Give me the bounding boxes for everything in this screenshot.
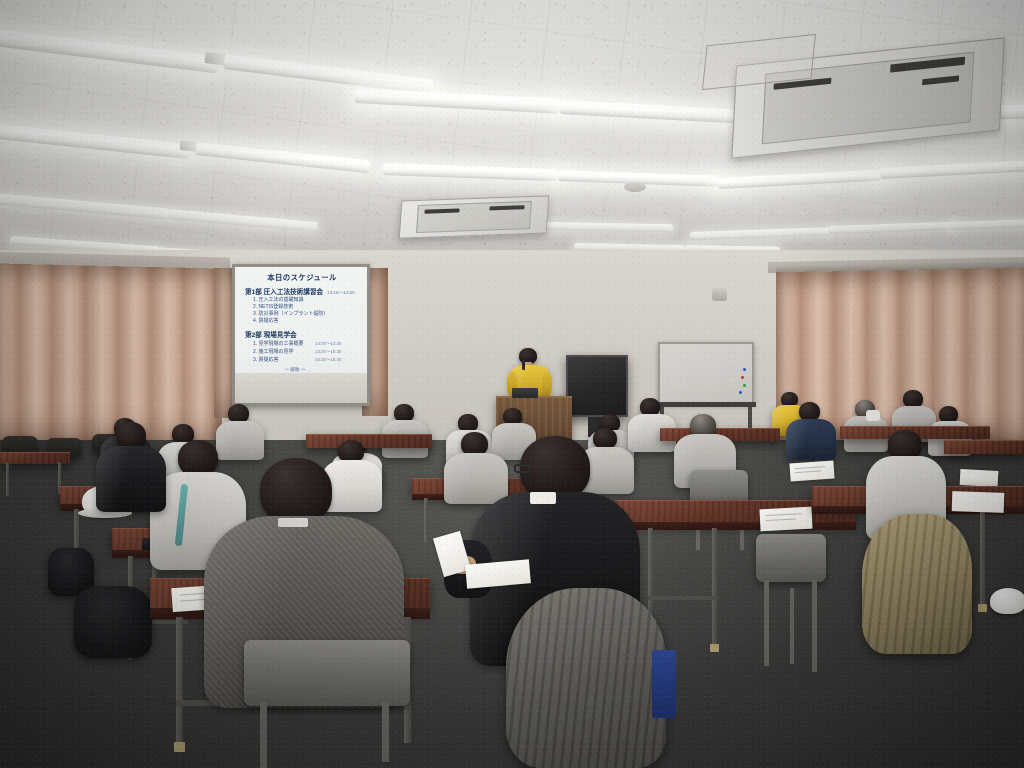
table-leg-cap: [978, 604, 987, 612]
ceiling-air-conditioner: [399, 195, 550, 238]
table: [944, 440, 1024, 454]
floor-bag: [74, 586, 152, 658]
ceiling: [0, 0, 1024, 268]
coat-folds: [506, 588, 666, 768]
slide-item-text: 2. 施工現場の見学: [253, 350, 315, 356]
torso-highlight: [786, 419, 836, 460]
slide-item: 3. 質疑応答 15:30～15:40: [253, 357, 359, 364]
whiteboard-magnet: [743, 368, 746, 371]
attendee-torso: [96, 446, 166, 512]
shirt-collar: [530, 492, 556, 504]
slide-item-text: 4. 質疑応答: [253, 319, 315, 325]
khaki-jacket-on-chair: [862, 514, 972, 654]
folding-chair[interactable]: [244, 640, 410, 706]
chair-leg: [260, 702, 267, 768]
shirt-collar: [278, 518, 308, 527]
handout-paper: [789, 460, 834, 481]
slide-item: 2. NETIS登録技術: [253, 305, 359, 311]
table-leg: [980, 512, 985, 608]
whiteboard-magnet: [743, 384, 746, 387]
attendee: [382, 404, 428, 458]
table-leg-cap: [710, 644, 719, 652]
paper-line: [795, 470, 821, 473]
laptop: [512, 388, 538, 398]
chair-leg: [790, 588, 794, 664]
slide-section-heading: 第1部 圧入工法技術講習会 13:15～14:00: [245, 289, 359, 297]
microphone: [522, 360, 525, 370]
slide-section-heading: 第2部 現場見学会: [245, 332, 359, 340]
whiteboard-magnet: [739, 391, 742, 394]
slide-item: 2. 施工現場の見学 14:20～15:30: [253, 349, 359, 356]
slide-section-2-heading: 第2部 現場見学会: [245, 332, 297, 340]
attendee: [96, 422, 166, 512]
handout-paper: [759, 507, 812, 532]
torso-highlight: [96, 446, 166, 512]
presentation-slide: 本日のスケジュール 第1部 圧入工法技術講習会 13:15～14:00 1. 圧…: [235, 267, 367, 372]
attendee-head: [116, 422, 146, 449]
chair-leg: [764, 580, 769, 666]
gray-coat-on-chair: [506, 588, 666, 768]
table-grain: [944, 441, 1024, 454]
table-leg: [6, 462, 9, 496]
slide-item: 1. 見学現場の工事概要 14:00～14:20: [253, 341, 359, 348]
eyeglasses: [514, 464, 530, 473]
slide-item-time: 14:00～14:20: [315, 341, 341, 346]
attendee-torso: [786, 419, 836, 460]
presenter-arm: [542, 372, 552, 396]
table-cross-rail: [648, 596, 718, 600]
slide-item-text: 3. 質疑応答: [253, 358, 315, 364]
table-leg: [712, 528, 717, 648]
attendee: [786, 402, 836, 460]
slide-item-time: 15:30～15:40: [315, 357, 341, 362]
screen-lower-band: [235, 373, 367, 403]
slide-item-text: 1. 圧入工法の基礎知識: [253, 298, 315, 304]
table-leg: [424, 498, 428, 542]
handout-paper: [960, 469, 999, 487]
slide-title: 本日のスケジュール: [245, 274, 359, 283]
chair-leg: [812, 580, 817, 672]
folding-chair[interactable]: [756, 534, 826, 582]
slide-section-1-time: 13:15～14:00: [327, 290, 355, 295]
chair-leg: [382, 702, 389, 762]
slide-item: 1. 圧入工法の基礎知識: [253, 298, 359, 304]
wall-speaker: [712, 288, 727, 301]
ceiling-speaker: [624, 182, 646, 192]
whiteboard-magnet: [741, 376, 744, 379]
blue-bag: [652, 650, 676, 718]
slide-item-text: 3. 防災事例（インプラント堤防）: [253, 312, 328, 318]
slide-section-1-heading: 第1部 圧入工法技術講習会: [245, 289, 323, 297]
safety-helmet: [990, 588, 1024, 614]
paper-line: [766, 513, 802, 516]
projection-screen: 本日のスケジュール 第1部 圧入工法技術講習会 13:15～14:00 1. 圧…: [235, 267, 367, 403]
flat-panel-display: [566, 355, 628, 417]
attendee-head: [260, 458, 332, 524]
seminar-room-photo: 本日のスケジュール 第1部 圧入工法技術講習会 13:15～14:00 1. 圧…: [0, 0, 1024, 768]
coat-folds: [862, 514, 972, 654]
slide-item-text: 1. 見学現場の工事概要: [253, 342, 315, 348]
handout-paper: [952, 491, 1005, 513]
table-leg: [176, 617, 183, 747]
attendee-head: [520, 436, 590, 500]
slide-item: 3. 防災事例（インプラント堤防）: [253, 312, 359, 318]
slide-item: 4. 質疑応答: [253, 319, 359, 325]
paper-line: [795, 466, 825, 469]
whiteboard: [658, 342, 754, 404]
table-leg-cap: [174, 742, 185, 752]
face-mask: [866, 410, 880, 421]
slide-item-text: 2. NETIS登録技術: [253, 305, 315, 311]
slide-item-time: 14:20～15:30: [315, 349, 341, 354]
slide-footnote: ～ 解散 ～: [245, 367, 345, 372]
paper-line: [766, 518, 796, 521]
